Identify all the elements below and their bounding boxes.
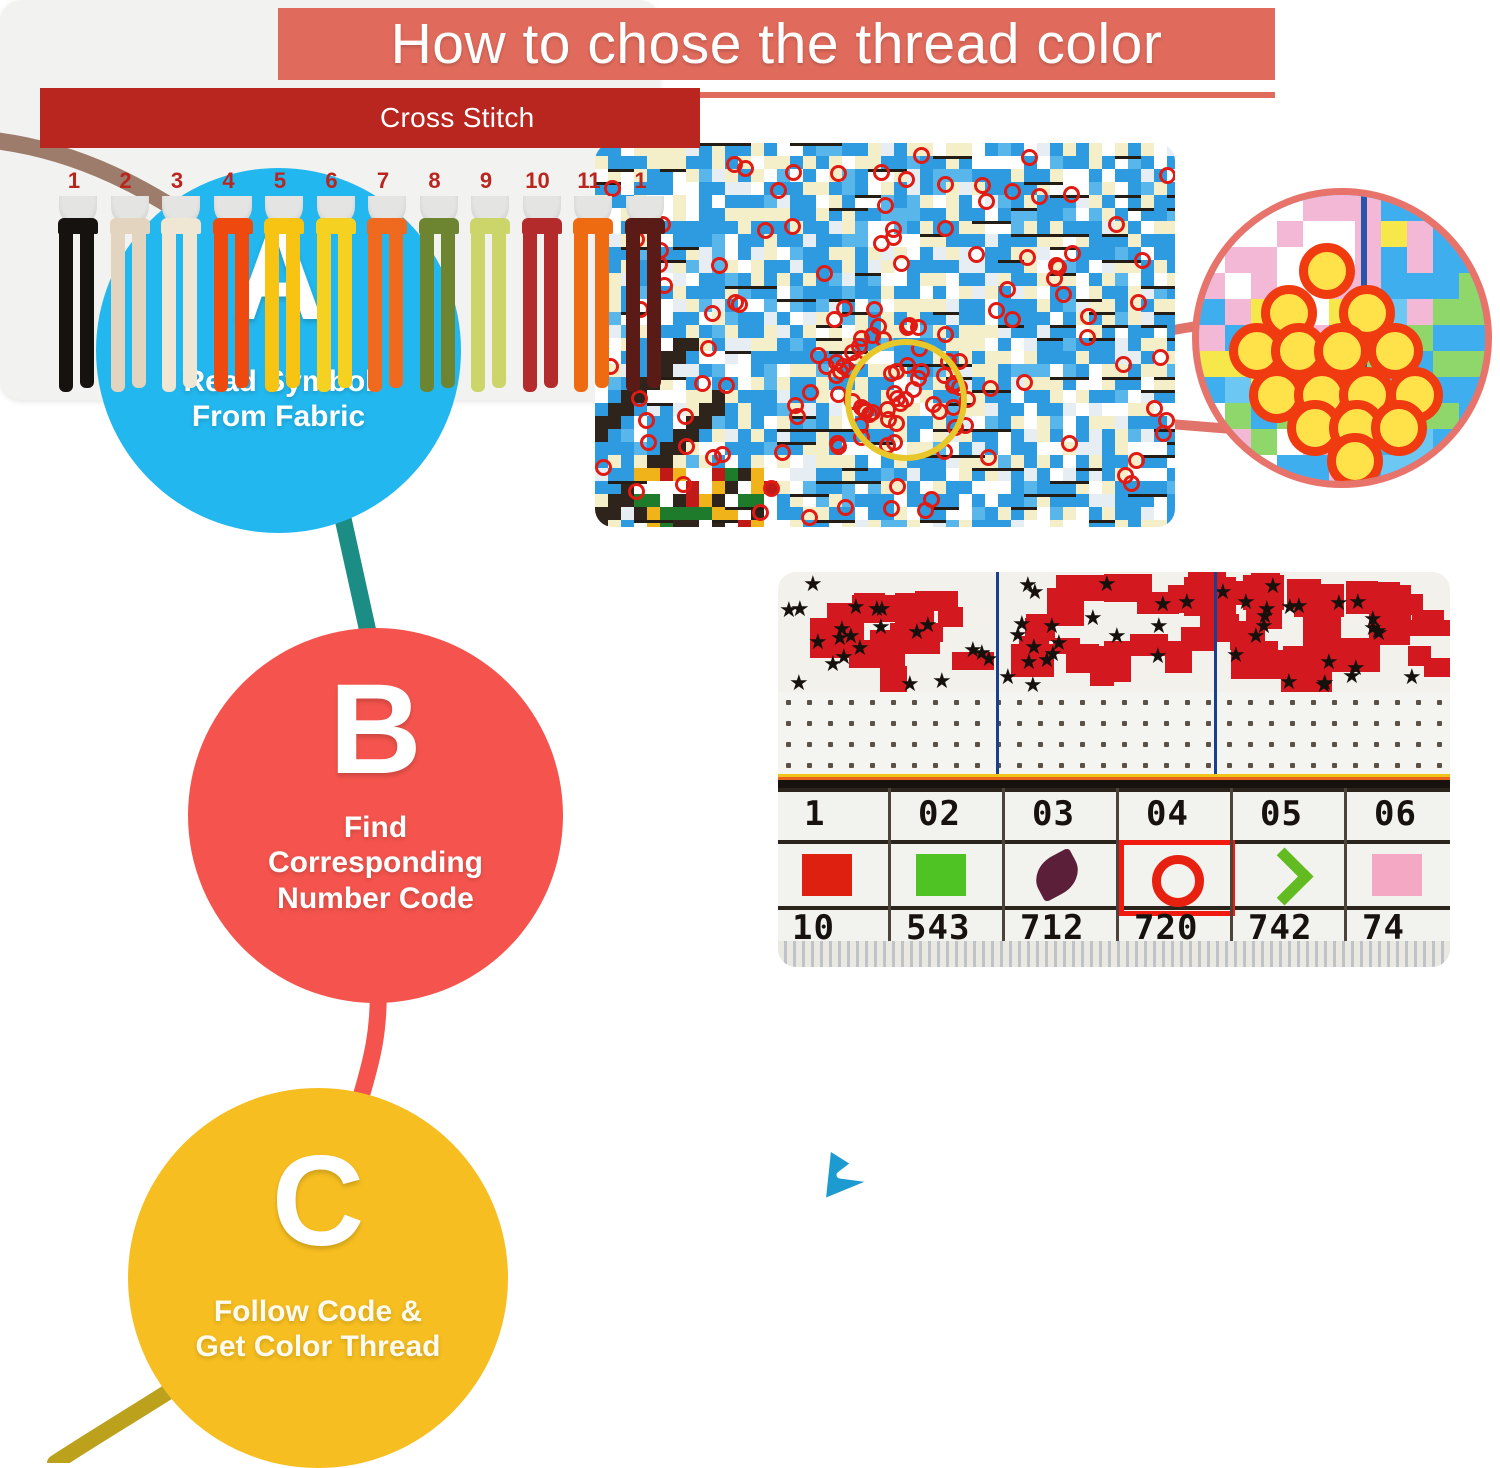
thread-skein [183,230,197,388]
thread-skein [420,230,434,392]
thread-position-number: 6 [312,168,352,194]
thread-skein [265,230,279,392]
thread-position-number: 1 [621,168,661,194]
thread-position-number: 2 [106,168,146,194]
thread-skein [286,230,300,388]
thread-position-number: 3 [157,168,197,194]
thread-position-number: 1 [54,168,94,194]
thread-skein [80,230,94,388]
thread-skein [441,230,455,388]
thread-skein [214,230,228,392]
thread-skein [626,230,640,392]
thread-position-number: 8 [415,168,455,194]
thread-skein [492,230,506,388]
thread-skein [523,230,537,392]
thread-skein [389,230,403,388]
thread-skein [132,230,146,388]
thread-skein [111,230,125,392]
thread-skein [162,230,176,392]
thread-skein [368,230,382,392]
thread-skein [595,230,609,388]
thread-position-number: 11 [569,168,609,194]
thread-skein [471,230,485,392]
thread-position-number: 10 [518,168,558,194]
thread-skein [235,230,249,388]
thread-skein [574,230,588,392]
thread-skein [544,230,558,388]
thread-position-number: 5 [260,168,300,194]
thread-skein [59,230,73,392]
thread-positions: 12345678910111 [0,0,660,400]
thread-skein [647,230,661,388]
thread-position-number: 7 [363,168,403,194]
thread-position-number: 4 [209,168,249,194]
thread-skein [338,230,352,388]
thread-position-number: 9 [466,168,506,194]
thread-skein [317,230,331,392]
thread-card: Cross Stitch 12345678910111 [0,0,660,400]
